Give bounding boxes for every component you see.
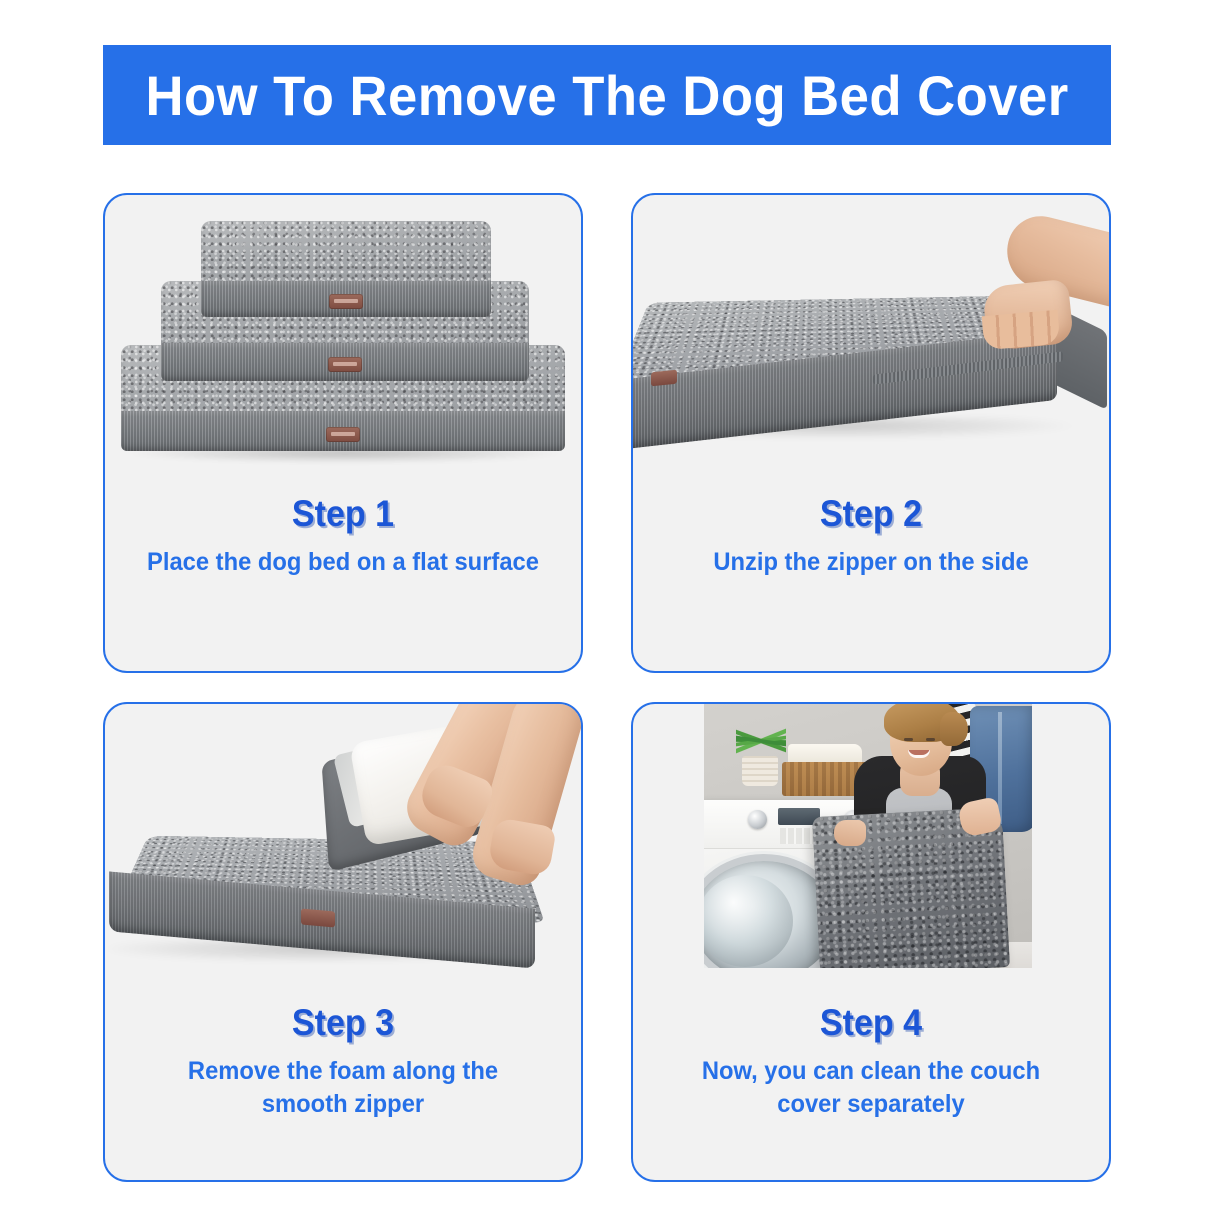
brand-label-icon: [328, 357, 362, 372]
page-title: How To Remove The Dog Bed Cover: [145, 63, 1068, 128]
step-2-label: Step 2: [652, 495, 1090, 532]
dog-bed-small: [201, 221, 491, 317]
step-2-caption: Step 2 Unzip the zipper on the side: [633, 495, 1109, 579]
brand-label-icon: [326, 427, 360, 442]
infographic-page: How To Remove The Dog Bed Cover: [0, 0, 1214, 1214]
title-banner: How To Remove The Dog Bed Cover: [103, 45, 1111, 145]
step-1-label: Step 1: [124, 495, 562, 532]
step-4-illustration: [633, 704, 1109, 1004]
woman-hand-left: [834, 820, 866, 846]
bed-side-panel: [201, 281, 491, 317]
step-4-description: Now, you can clean the couch cover separ…: [645, 1055, 1097, 1121]
plant-pot: [742, 756, 778, 786]
step-card-4: Step 4 Now, you can clean the couch cove…: [631, 702, 1111, 1182]
bed-side-panel: [161, 343, 529, 381]
woman-eye-right: [926, 738, 935, 741]
brand-label-icon: [301, 909, 335, 928]
step-card-3: Step 3 Remove the foam along the smooth …: [103, 702, 583, 1182]
woman-hair-bun: [940, 712, 968, 746]
step-1-description: Place the dog bed on a flat surface: [117, 546, 569, 579]
steps-grid: Step 1 Place the dog bed on a flat surfa…: [103, 193, 1111, 1182]
step-2-illustration: [633, 195, 1109, 495]
brand-label-icon: [329, 294, 363, 309]
step-4-caption: Step 4 Now, you can clean the couch cove…: [633, 1004, 1109, 1121]
washer-door-glass: [704, 875, 793, 967]
step-1-illustration: [105, 195, 581, 495]
bed-side-panel: [121, 411, 565, 451]
step-4-label: Step 4: [652, 1004, 1090, 1041]
woman-eye-left: [904, 738, 913, 741]
step-card-1: Step 1 Place the dog bed on a flat surfa…: [103, 193, 583, 673]
brand-label-icon: [651, 370, 677, 387]
stacked-dog-beds-image: [105, 195, 581, 495]
sherpa-top-surface: [201, 221, 491, 289]
step-3-description: Remove the foam along the smooth zipper: [117, 1055, 569, 1121]
laundry-room-photo: [704, 704, 1032, 968]
step-1-caption: Step 1 Place the dog bed on a flat surfa…: [105, 495, 581, 579]
step-2-description: Unzip the zipper on the side: [645, 546, 1097, 579]
step-3-illustration: [105, 704, 581, 1004]
step-3-caption: Step 3 Remove the foam along the smooth …: [105, 1004, 581, 1121]
step-card-2: Step 2 Unzip the zipper on the side: [631, 193, 1111, 673]
step-3-label: Step 3: [124, 1004, 562, 1041]
washer-dial-left: [748, 810, 767, 829]
